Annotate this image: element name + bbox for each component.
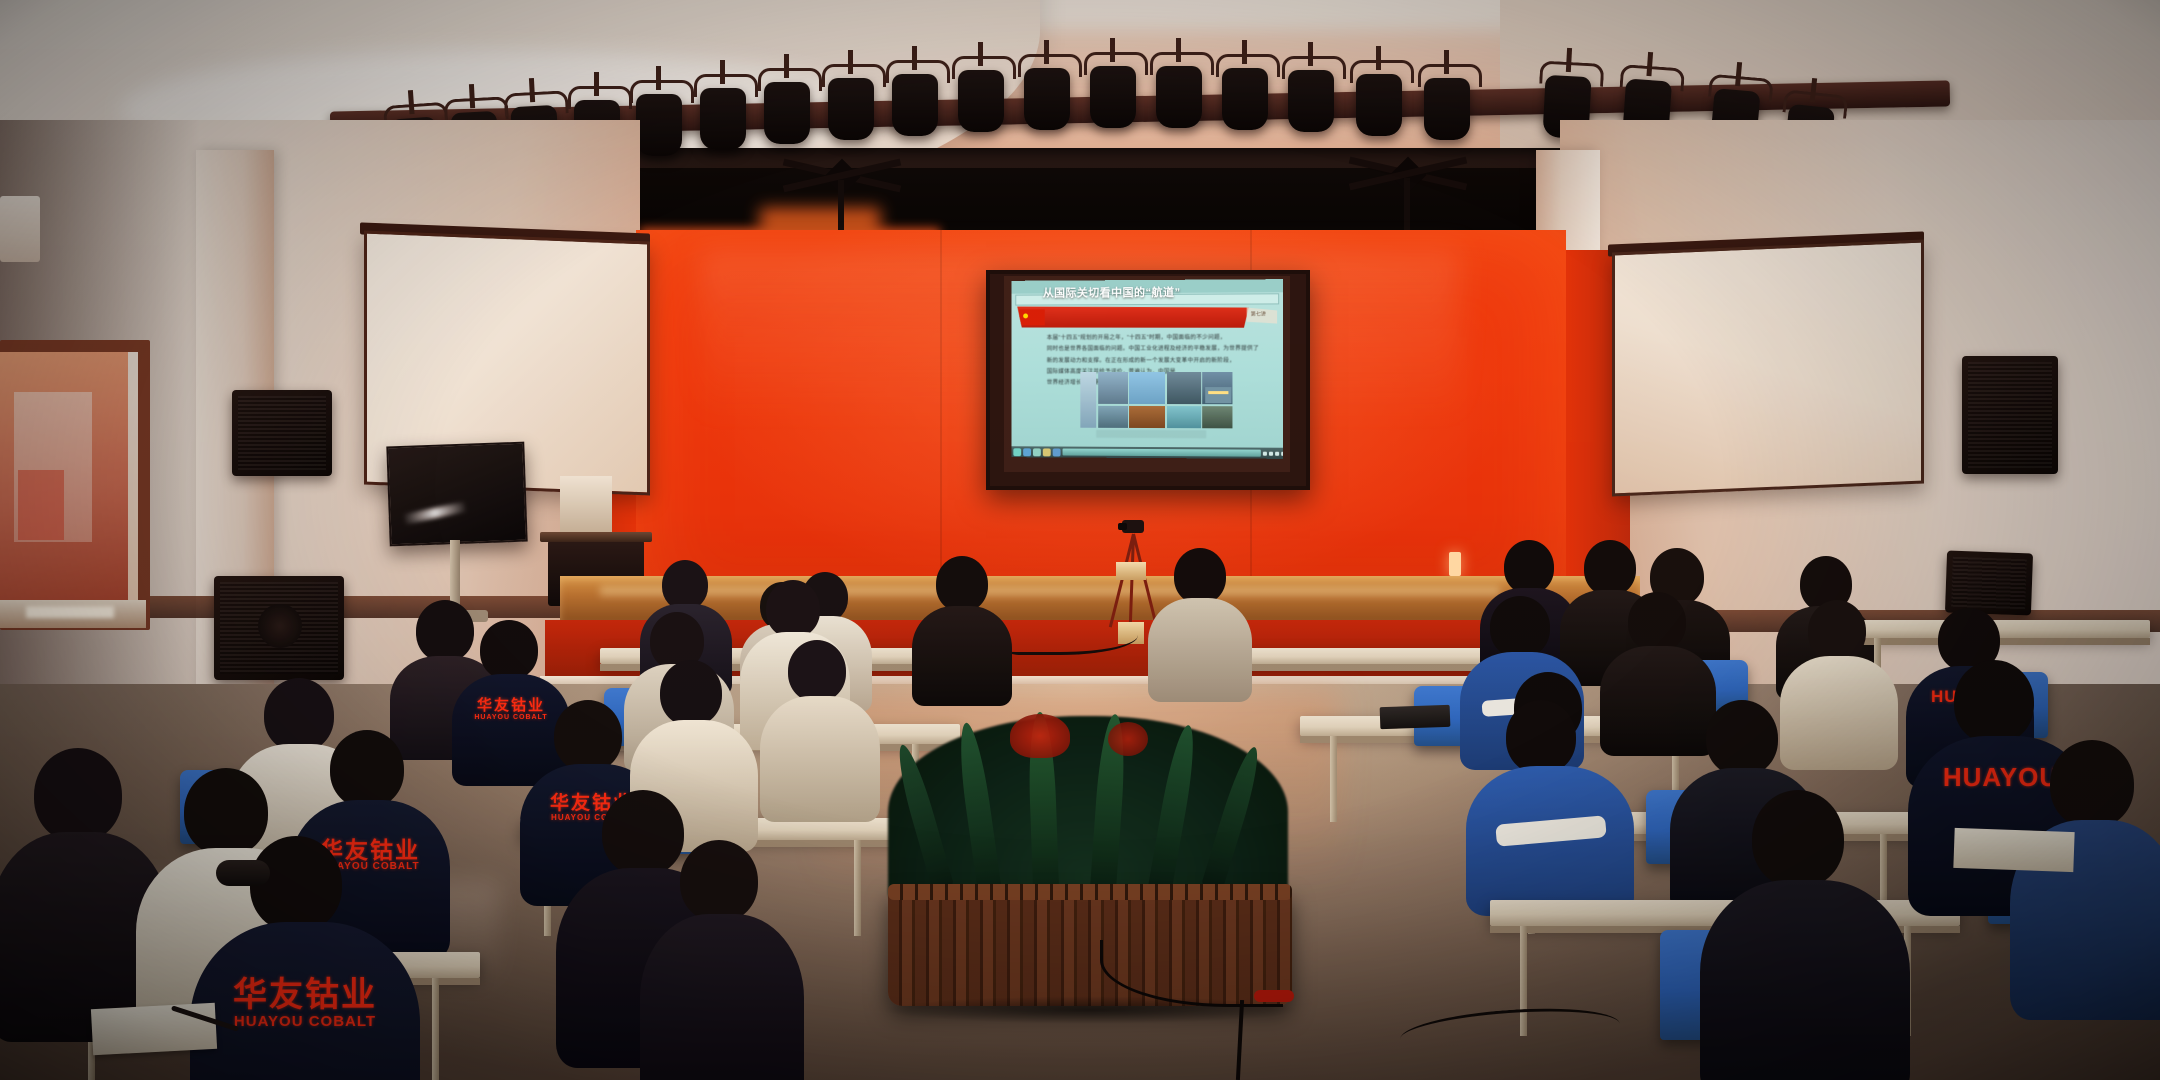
head — [766, 580, 820, 638]
start-icon[interactable] — [1013, 448, 1021, 456]
clock-icon[interactable] — [1281, 451, 1283, 455]
torso — [1700, 880, 1910, 1080]
wall-panel — [0, 196, 40, 262]
torso — [1148, 598, 1252, 702]
camera-lens-icon — [1118, 523, 1127, 530]
torso — [1600, 646, 1716, 756]
slide-caption-bar — [1096, 430, 1206, 439]
wall-sconce — [1449, 552, 1461, 576]
left-wall-speaker — [232, 390, 332, 476]
head — [1808, 600, 1866, 662]
collage-photo — [1098, 405, 1128, 427]
stage-light — [1222, 68, 1268, 130]
media-icon[interactable] — [1043, 448, 1051, 456]
stage-light — [1090, 66, 1136, 128]
tablet-device[interactable] — [1380, 705, 1451, 729]
paper-sheet — [1953, 828, 2074, 872]
collage-photo — [1167, 406, 1201, 428]
head — [680, 840, 758, 922]
slide-line: 同时也是世界各国面临的问题。中国工业化进程及经济的平稳发展，为世界提供了 — [1033, 345, 1261, 353]
uniform-logo-cn: 华友钴业 — [190, 978, 420, 1014]
explorer-icon[interactable] — [1023, 448, 1031, 456]
head — [602, 790, 684, 876]
head — [1706, 700, 1778, 776]
stage-light — [892, 74, 938, 136]
center-projection-screen[interactable]: 从国际关切看中国的“航道” 第七讲 本届“十四五”规划的开局之年，“十四五”时期… — [1004, 276, 1290, 472]
china-flag-icon — [1019, 309, 1045, 325]
head — [660, 660, 722, 726]
collage-photo — [1167, 372, 1201, 404]
truss-cross-stem — [1404, 178, 1410, 232]
paper-sheet — [91, 1003, 217, 1055]
doorway-light-strip — [128, 352, 138, 614]
planter-rim — [888, 884, 1292, 900]
head — [554, 700, 622, 772]
collage-photo — [1202, 406, 1232, 428]
collage-photo — [1129, 372, 1165, 404]
stage-wood-sheen — [600, 586, 1500, 596]
head — [662, 560, 708, 610]
head — [1504, 540, 1554, 594]
head — [1628, 592, 1686, 652]
uniform-back-logo: 华友钴业 HUAYOU COBALT — [452, 698, 570, 721]
stage-light — [636, 94, 682, 156]
head — [1174, 548, 1226, 604]
system-tray[interactable] — [1263, 451, 1283, 455]
mouse-device[interactable] — [216, 860, 270, 886]
head — [788, 640, 846, 702]
head — [330, 730, 404, 808]
uniform-reflective-stripe — [1495, 815, 1606, 847]
tripod-riser-plate — [1116, 562, 1146, 580]
stage-light — [1356, 74, 1402, 136]
network-icon[interactable] — [1263, 451, 1267, 455]
slide-line: 新的发展动力和支撑。在正在形成的新一个发展大变革中开启的新阶段， — [1033, 356, 1261, 364]
windows-taskbar[interactable] — [1011, 446, 1283, 459]
wall-shelf — [560, 476, 612, 532]
head — [936, 556, 988, 612]
word-icon[interactable] — [1053, 448, 1061, 456]
speaker-driver — [258, 604, 302, 648]
slide-corner-note: 第七讲 — [1251, 311, 1266, 318]
plant-red-bract — [1108, 722, 1148, 756]
stage-light — [1156, 66, 1202, 128]
doorway-sill-highlight — [26, 606, 114, 618]
stage-light — [700, 88, 746, 150]
head — [34, 748, 122, 842]
news-badge — [1205, 387, 1231, 403]
volume-icon[interactable] — [1269, 451, 1273, 455]
photo-collage-grid — [1080, 372, 1232, 426]
torso: 华友钴业 HUAYOU COBALT — [190, 922, 420, 1080]
wall-poster-red — [18, 470, 64, 540]
uniform-logo-en: HUAYOU COBALT — [452, 714, 570, 721]
stage-wood-band — [560, 576, 1640, 622]
head — [1506, 700, 1576, 774]
uniform-logo-cn: 华友钴业 — [452, 698, 570, 714]
collage-photo — [1098, 372, 1128, 404]
collage-photo — [1129, 405, 1165, 427]
truss-cross-stem — [838, 180, 844, 232]
auditorium-photo: 从国际关切看中国的“航道” 第七讲 本届“十四五”规划的开局之年，“十四五”时期… — [0, 0, 2160, 1080]
plant-red-bract — [1010, 714, 1070, 758]
running-app-button[interactable] — [1063, 449, 1261, 457]
slide-title: 从国际关切看中国的“航道” — [1043, 284, 1181, 301]
torso — [912, 606, 1012, 706]
head — [1490, 596, 1550, 658]
right-projection-screen — [1612, 239, 1924, 496]
collage-photo — [1080, 372, 1096, 427]
torso: 华友钴业 HUAYOU COBALT — [452, 674, 570, 786]
head — [2050, 740, 2134, 828]
right-wall-speaker-lower — [1945, 551, 2033, 616]
head — [1584, 540, 1636, 596]
torso — [760, 696, 880, 822]
battery-icon[interactable] — [1275, 451, 1279, 455]
side-cabinet-top — [540, 532, 652, 542]
flat-panel-tv — [386, 442, 527, 547]
torso — [1780, 656, 1898, 770]
head — [1954, 660, 2034, 744]
stage-light — [958, 70, 1004, 132]
stage-light — [1424, 78, 1470, 140]
torso — [640, 914, 804, 1080]
slide-title-ribbon — [1017, 306, 1248, 329]
head — [480, 620, 538, 680]
stage-light — [1288, 70, 1334, 132]
stage-light — [828, 78, 874, 140]
desk — [1850, 620, 2150, 638]
head — [264, 678, 334, 752]
stage-light — [764, 82, 810, 144]
slide-line: 本届“十四五”规划的开局之年，“十四五”时期，中国面临的不少问题， — [1033, 334, 1261, 343]
ie-icon[interactable] — [1033, 448, 1041, 456]
head — [184, 768, 268, 856]
right-wall-speaker — [1962, 356, 2058, 474]
head — [1752, 790, 1844, 888]
head — [416, 600, 474, 662]
stage-light — [1024, 68, 1070, 130]
presentation-slide: 从国际关切看中国的“航道” 第七讲 本届“十四五”规划的开局之年，“十四五”时期… — [1011, 279, 1283, 459]
torso — [1466, 766, 1634, 916]
